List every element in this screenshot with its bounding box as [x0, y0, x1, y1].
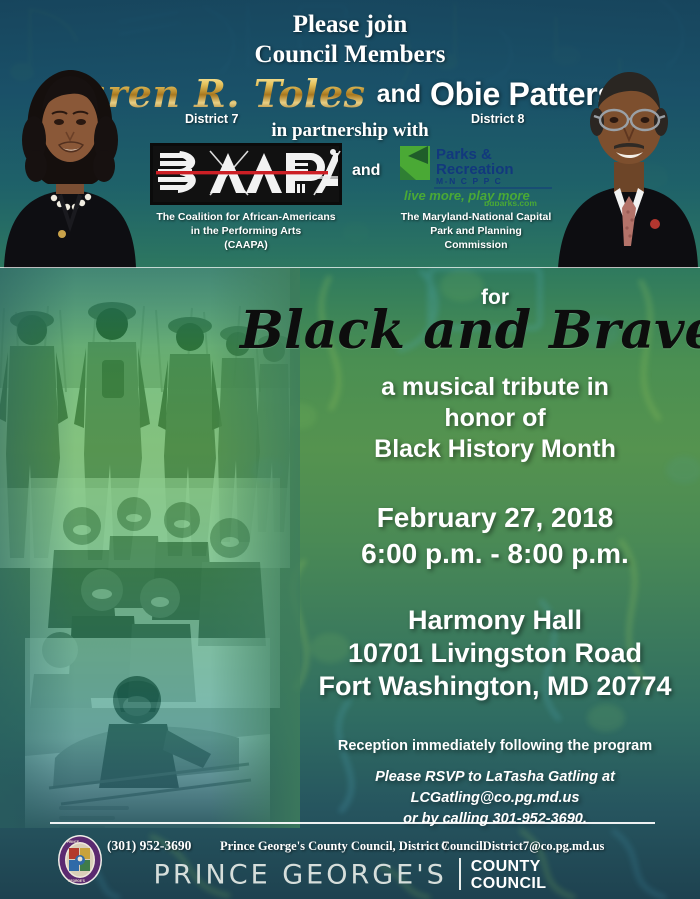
logos-conjunction: and — [352, 162, 380, 180]
rsvp-line-2: or by calling 301-952-3690. — [290, 809, 700, 830]
wordmark-prince-georges: PRINCE GEORGE'S — [154, 860, 447, 891]
venue-street: 10701 Livingston Road — [290, 637, 700, 670]
wordmark-county-council: COUNTYCOUNCIL — [471, 858, 547, 892]
caapa-caption-line-2: in the Performing Arts — [150, 224, 342, 238]
mncppc-caption-line-2: Park and Planning — [398, 224, 554, 238]
caapa-caption-line-3: (CAAPA) — [150, 238, 342, 252]
wordmark-separator — [459, 858, 461, 890]
obie-patterson-portrait — [556, 56, 700, 268]
svg-text:PRINCE: PRINCE — [67, 840, 79, 844]
invite-line-1: Please join — [0, 10, 700, 40]
mncppc-sponsor-block: Parks & Recreation M-N C P P C live more… — [398, 142, 554, 252]
parks-recreation-logo: Parks & Recreation M-N C P P C live more… — [398, 142, 554, 206]
subtitle-line-3: Black History Month — [290, 434, 700, 465]
subtitle-line-2: honor of — [290, 403, 700, 434]
caapa-logo — [150, 143, 342, 205]
footer-council-line: Prince George's County Council, District… — [220, 839, 448, 854]
rsvp-line-1: Please RSVP to LaTasha Gatling at LCGatl… — [290, 767, 700, 809]
header-divider — [0, 267, 700, 268]
svg-text:M-N C P P C: M-N C P P C — [436, 176, 502, 186]
karen-toles-portrait — [0, 56, 140, 268]
rsvp-note: Please RSVP to LaTasha Gatling at LCGatl… — [290, 767, 700, 830]
venue-city-state: Fort Washington, MD 20774 — [290, 670, 700, 703]
event-date: February 27, 2018 — [290, 500, 700, 536]
subtitle-line-1: a musical tribute in — [290, 372, 700, 403]
county-council-wordmark: PRINCE GEORGE'SCOUNTYCOUNCIL — [0, 858, 700, 892]
event-title: Black and Brave — [240, 300, 700, 362]
wordmark-council: COUNCIL — [471, 875, 547, 892]
event-subtitle: a musical tribute in honor of Black Hist… — [290, 372, 700, 465]
footer-phone[interactable]: (301) 952-3690 — [107, 838, 191, 854]
event-time: 6:00 p.m. - 8:00 p.m. — [290, 536, 700, 572]
caapa-caption: The Coalition for African-Americans in t… — [150, 210, 342, 252]
mncppc-caption-line-3: Commission — [398, 238, 554, 252]
caapa-sponsor-block: The Coalition for African-Americans in t… — [150, 143, 342, 252]
svg-text:pgparks.com: pgparks.com — [484, 198, 537, 206]
mncppc-caption-line-1: The Maryland-National Capital — [398, 210, 554, 224]
event-flyer: Please join Council Members Karen R. Tol… — [0, 0, 700, 899]
tuskegee-airman-cockpit-photo — [25, 638, 270, 828]
footer-divider — [50, 822, 655, 824]
footer-email[interactable]: CouncilDistrict7@co.pg.md.us — [441, 839, 604, 854]
event-datetime: February 27, 2018 6:00 p.m. - 8:00 p.m. — [290, 500, 700, 572]
caapa-caption-line-1: The Coalition for African-Americans — [150, 210, 342, 224]
wordmark-county: COUNTY — [471, 858, 547, 875]
reception-note: Reception immediately following the prog… — [290, 738, 700, 754]
event-venue: Harmony Hall 10701 Livingston Road Fort … — [290, 604, 700, 703]
parks-green-mark — [400, 146, 430, 180]
members-conjunction: and — [368, 80, 430, 109]
mncppc-caption: The Maryland-National Capital Park and P… — [398, 210, 554, 252]
venue-name: Harmony Hall — [290, 604, 700, 637]
